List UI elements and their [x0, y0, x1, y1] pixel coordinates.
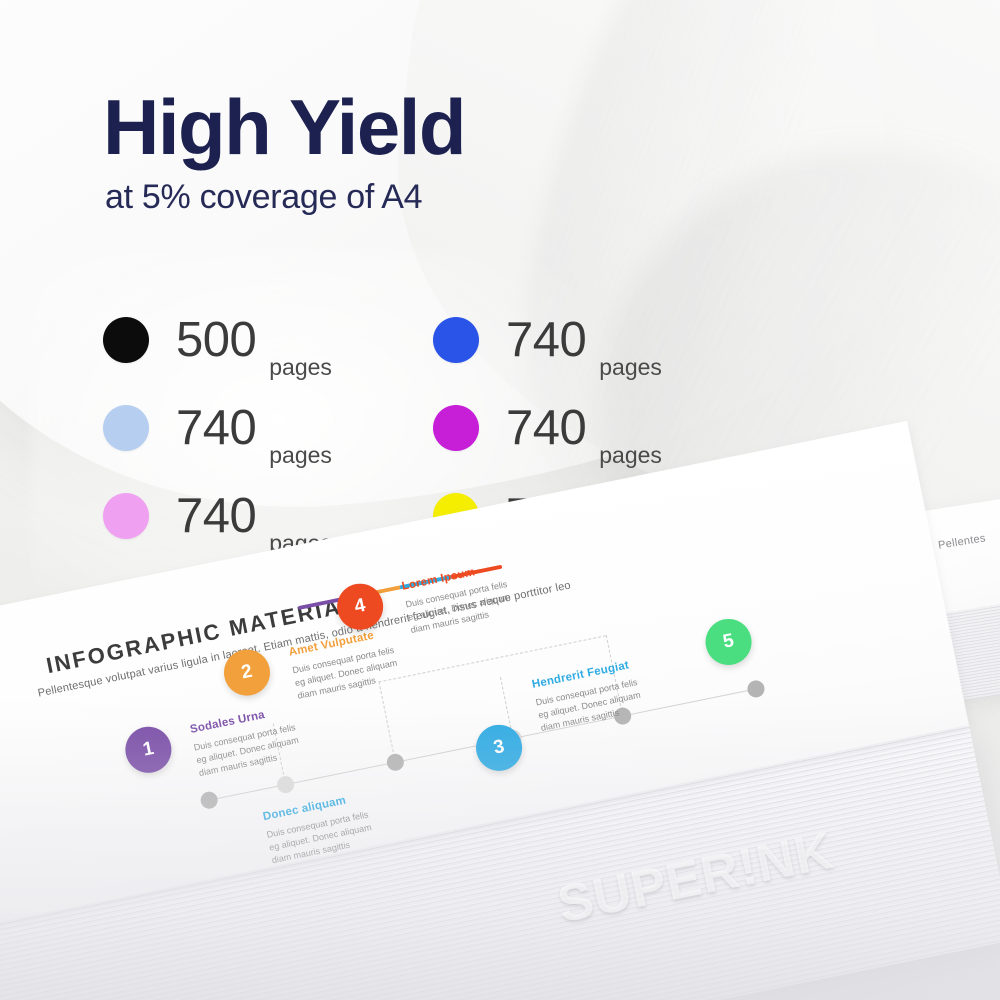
- infographic-step-4: 4: [333, 580, 387, 634]
- color-swatch-pink-icon: [103, 493, 149, 539]
- poster-canvas: High Yield at 5% coverage of A4 500 page…: [0, 0, 1000, 1000]
- infographic-step-5: 5: [701, 615, 755, 669]
- page-title: High Yield: [103, 88, 465, 166]
- yield-unit: pages: [269, 356, 332, 384]
- connector-node-dot: [746, 679, 766, 699]
- yield-item-black: 500 pages: [103, 296, 433, 384]
- yield-unit: pages: [599, 444, 662, 472]
- yield-unit: pages: [269, 444, 332, 472]
- step-number-badge: 5: [701, 615, 755, 669]
- yield-item-blue: 740 pages: [433, 296, 763, 384]
- yield-value: 740: [176, 492, 256, 541]
- bottom-haze: [0, 700, 1000, 1000]
- color-swatch-blue-icon: [433, 317, 479, 363]
- page-subtitle: at 5% coverage of A4: [105, 180, 465, 214]
- step-number-badge: 4: [333, 580, 387, 634]
- yield-value: 500: [176, 316, 256, 365]
- step-number-badge: 2: [220, 645, 274, 699]
- yield-value: 740: [176, 404, 256, 453]
- yield-unit: pages: [599, 356, 662, 384]
- yield-item-light-blue: 740 pages: [103, 384, 433, 472]
- yield-item-magenta: 740 pages: [433, 384, 763, 472]
- infographic-step-2: 2: [220, 645, 274, 699]
- yield-value: 740: [506, 404, 586, 453]
- color-swatch-magenta-icon: [433, 405, 479, 451]
- color-swatch-light-blue-icon: [103, 405, 149, 451]
- color-swatch-black-icon: [103, 317, 149, 363]
- yield-value: 740: [506, 316, 586, 365]
- headline-block: High Yield at 5% coverage of A4: [103, 88, 465, 214]
